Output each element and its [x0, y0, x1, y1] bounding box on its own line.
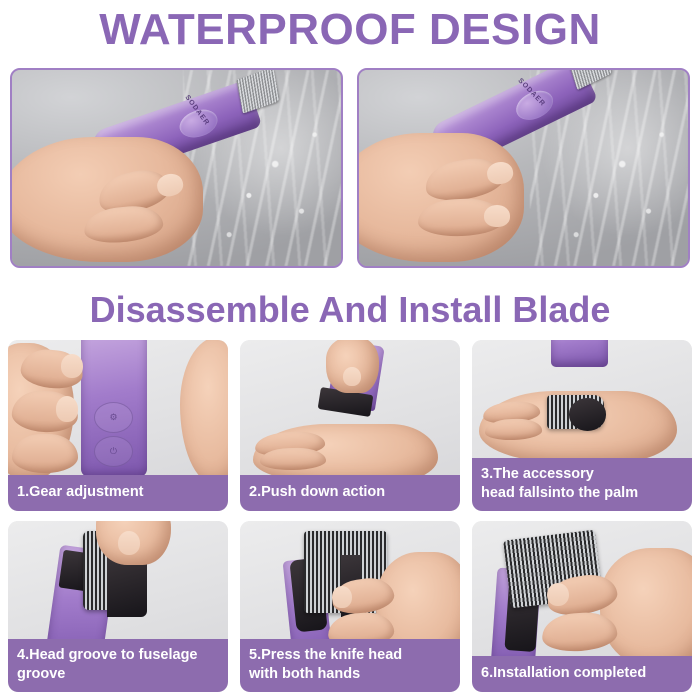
fingernail	[332, 586, 352, 608]
finger	[260, 447, 326, 470]
fingernail	[118, 531, 140, 555]
step-caption-2: 2.Push down action	[240, 475, 460, 511]
fingernail	[56, 396, 78, 422]
clipper-body	[551, 340, 608, 367]
step-caption-3: 3.The accessory head fallsinto the palm	[472, 458, 692, 511]
waterproof-photo-right: SODAER	[357, 68, 690, 268]
step-cell-3: 3.The accessory head fallsinto the palm	[472, 340, 692, 511]
step-caption-6: 6.Installation completed	[472, 656, 692, 692]
page-title: WATERPROOF DESIGN	[0, 4, 700, 56]
step-cell-6: 6.Installation completed	[472, 521, 692, 692]
finger	[12, 434, 78, 473]
step-cell-1: ⚙ ⏻ 1.Gear adjustment	[8, 340, 228, 511]
gear-button-icon: ⚙	[94, 402, 133, 433]
waterproof-photo-left: SODAER	[10, 68, 343, 268]
power-button-icon: ⏻	[94, 436, 133, 467]
clipper-blade	[236, 68, 280, 114]
step-cell-2: 2.Push down action	[240, 340, 460, 511]
step-cell-5: 5.Press the knife head with both hands	[240, 521, 460, 692]
step-caption-4: 4.Head groove to fuselage groove	[8, 639, 228, 692]
finger	[541, 611, 618, 654]
step-cell-4: 4.Head groove to fuselage groove	[8, 521, 228, 692]
step-caption-5: 5.Press the knife head with both hands	[240, 639, 460, 692]
hand	[600, 548, 692, 668]
fingernail	[547, 583, 569, 607]
fingernail	[343, 367, 361, 386]
section-title: Disassemble And Install Blade	[0, 288, 700, 332]
step-caption-1: 1.Gear adjustment	[8, 475, 228, 511]
fingernail	[484, 205, 510, 227]
steps-grid: ⚙ ⏻ 1.Gear adjustment	[8, 340, 692, 692]
waterproof-photo-row: SODAER SODAER	[10, 68, 690, 268]
product-infographic: WATERPROOF DESIGN SODAER	[0, 0, 700, 700]
fingernail	[61, 354, 83, 378]
blade-head-base	[569, 398, 606, 430]
hand	[180, 340, 228, 484]
